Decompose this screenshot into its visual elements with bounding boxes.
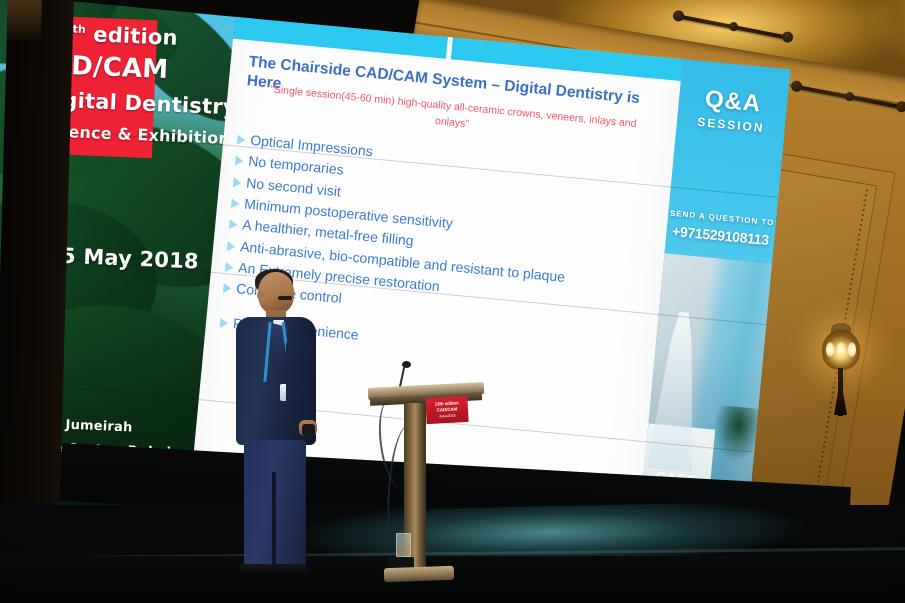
wall-sconce-lamp: [818, 330, 864, 430]
qa-phone-number: +971529108113: [666, 222, 775, 248]
speaker-ear: [257, 290, 264, 300]
sconce-globe: [822, 330, 860, 370]
bullet-triangle-icon: [229, 219, 238, 230]
podium: 13th edition CAD/CAM dubai2018: [368, 385, 518, 600]
bullet-triangle-icon: [235, 156, 244, 167]
sconce-tail: [834, 385, 847, 415]
speaker: [226, 272, 322, 577]
speaker-shoe-left: [240, 564, 274, 576]
microphone-head: [402, 361, 411, 368]
presentation-clicker: [302, 424, 315, 436]
podium-sign: 13th edition CAD/CAM dubai2018: [425, 396, 468, 424]
bullet-triangle-icon: [231, 198, 240, 209]
curtain-top-trim: [7, 0, 42, 40]
water-glass: [396, 533, 411, 557]
speaker-leg-split: [272, 472, 276, 564]
podium-base: [384, 566, 454, 582]
bullet-triangle-icon: [233, 177, 242, 188]
conference-stage-photo: 13th edition CAD/CAM & Digital Dentistry…: [0, 0, 905, 603]
speaker-arm: [286, 334, 316, 430]
bullet-triangle-icon: [225, 262, 234, 273]
speaker-moustache: [278, 296, 292, 300]
podium-sign-line3: dubai2018: [426, 413, 468, 419]
speaker-shoe-right: [270, 564, 308, 576]
bullet-triangle-icon: [237, 135, 246, 146]
bullet-triangle-icon: [227, 241, 236, 252]
